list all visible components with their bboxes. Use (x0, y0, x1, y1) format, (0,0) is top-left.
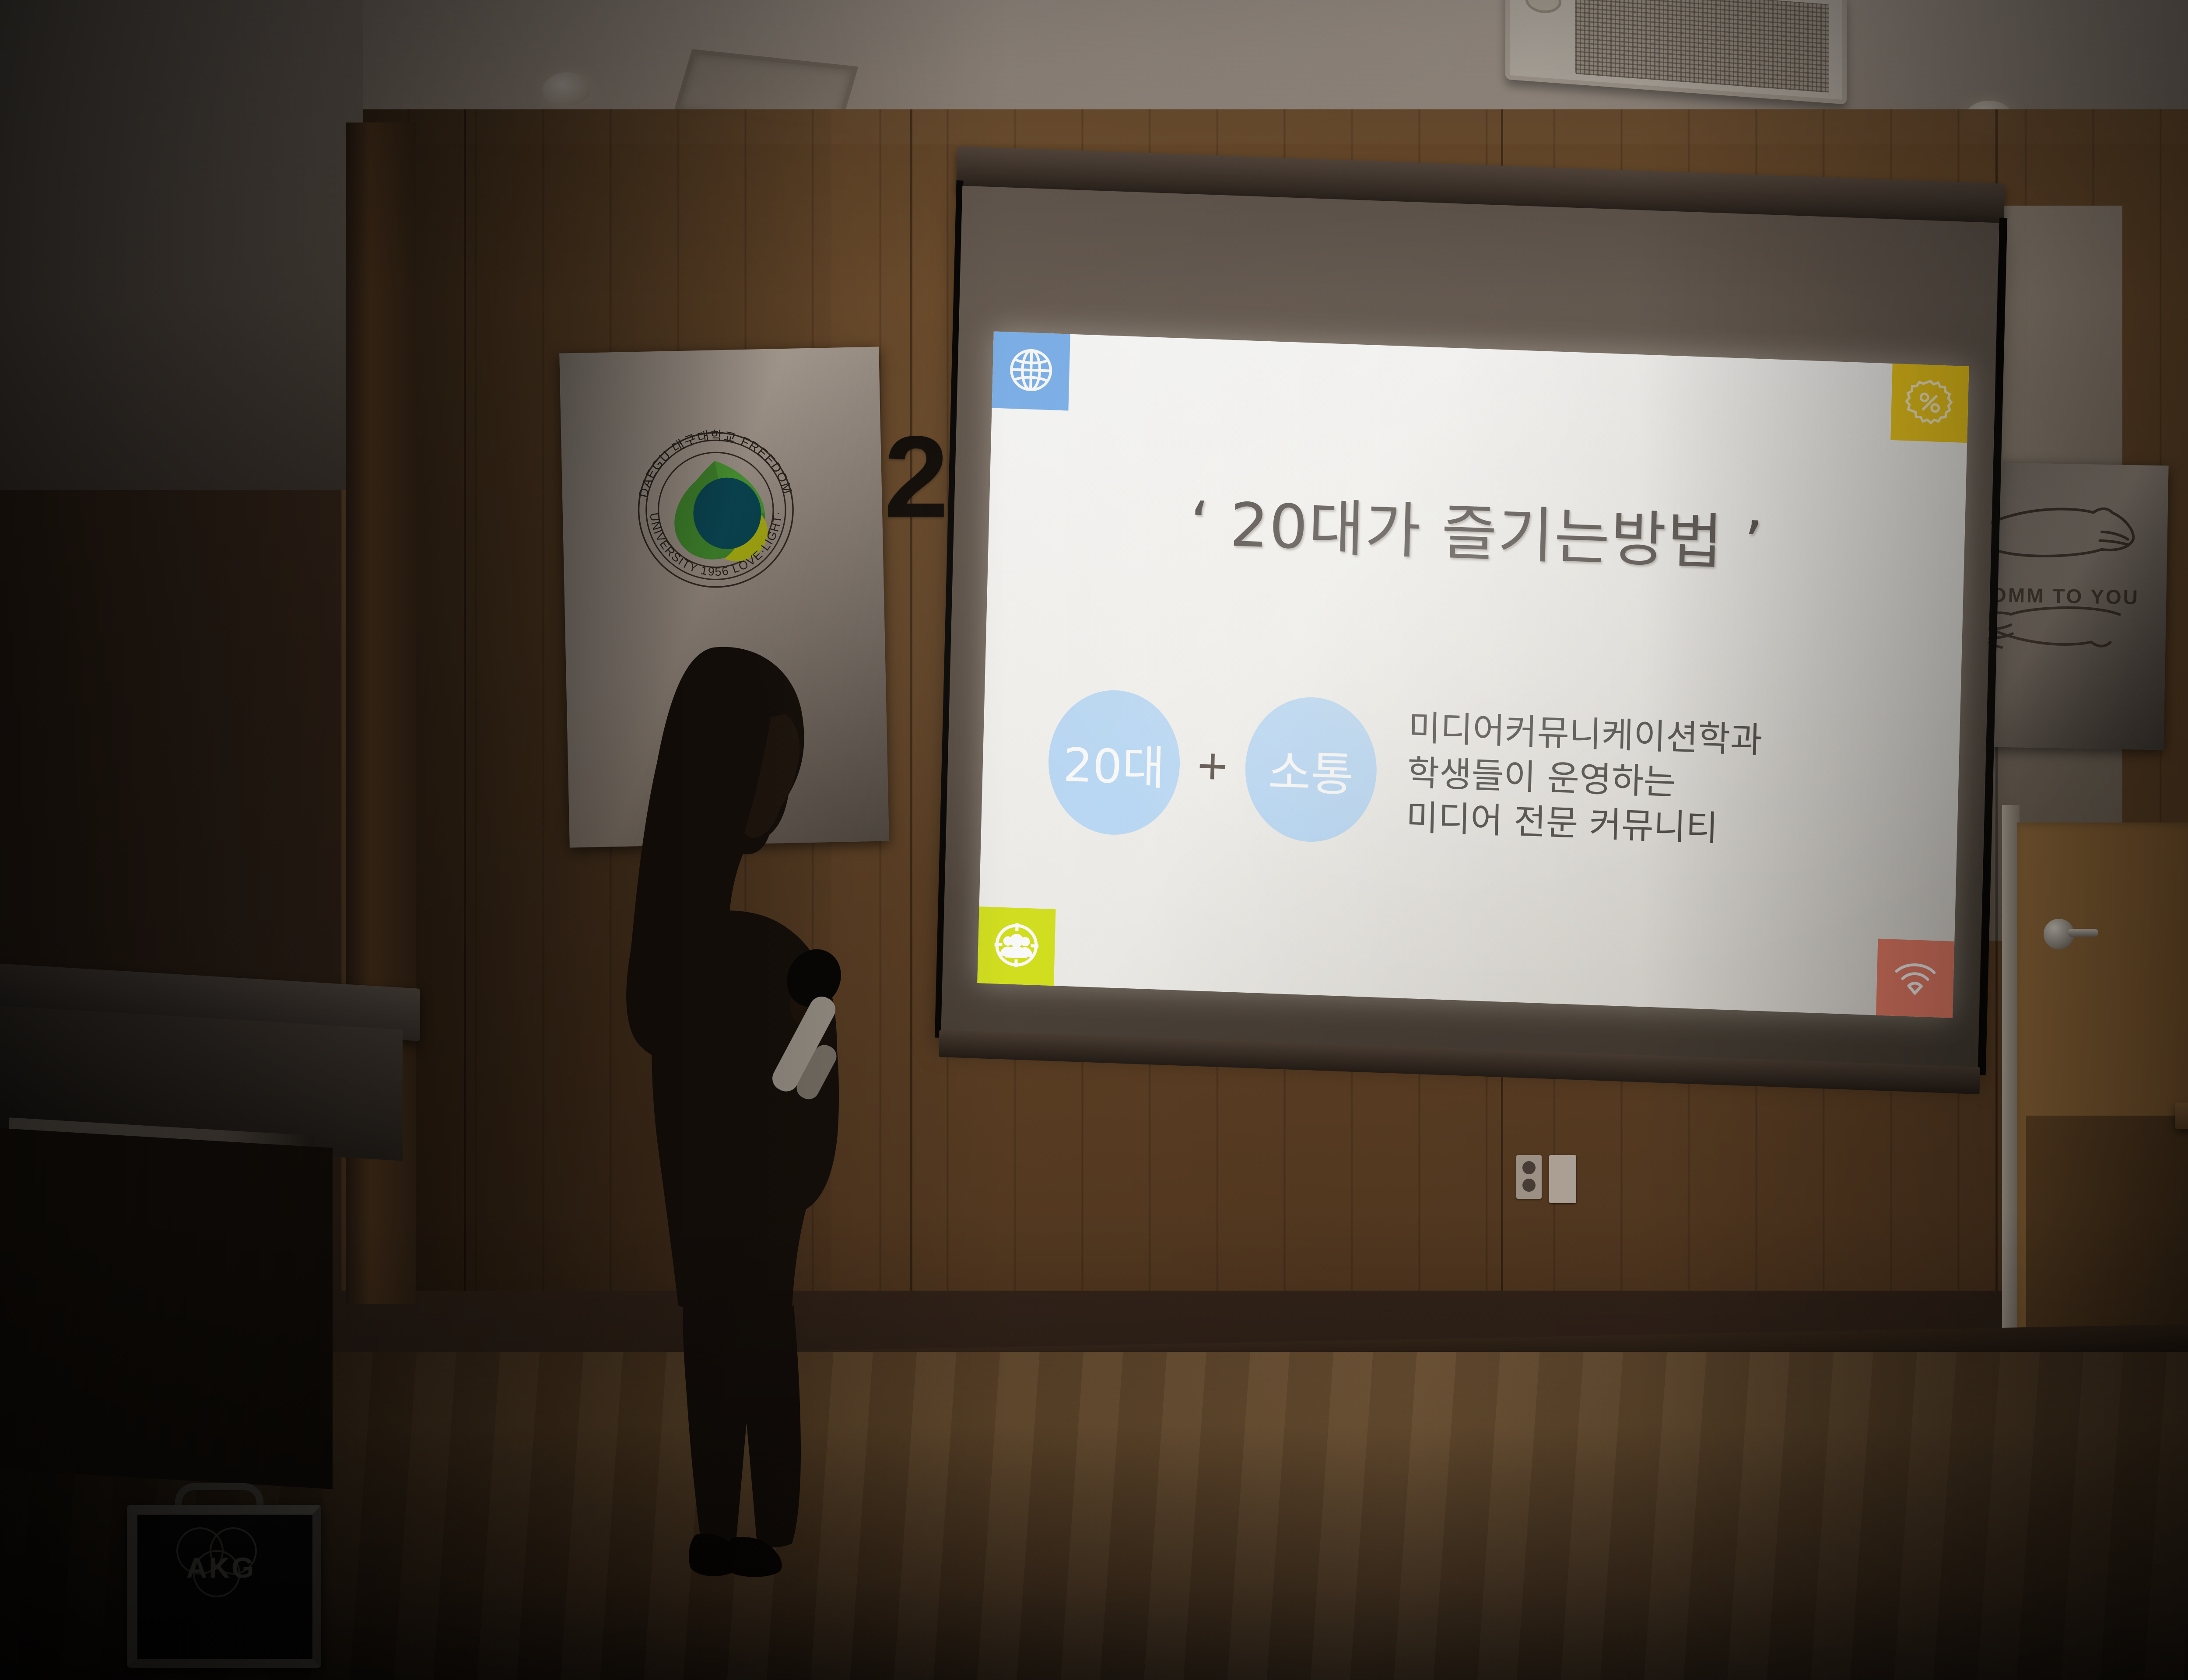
projected-slide: ‘ 20대가 즐기는방법 ’ 20대 + 소통 미디어커뮤니케이션학과 학생들이… (977, 331, 1969, 1018)
akg-microphone-case: AKG (127, 1479, 315, 1662)
slide-formula-row: 20대 + 소통 미디어커뮤니케이션학과 학생들이 운영하는 미디어 전문 커뮤… (1046, 666, 1917, 885)
wall-seam (464, 109, 466, 1291)
percent-badge-icon (1904, 376, 1956, 430)
projection-screen-surface: ‘ 20대가 즐기는방법 ’ 20대 + 소통 미디어커뮤니케이션학과 학생들이… (941, 186, 1999, 1071)
presenter-silhouette (582, 630, 897, 1584)
power-outlet[interactable] (1516, 1155, 1542, 1199)
door-lever-handle[interactable] (2068, 929, 2098, 937)
target-people-icon (991, 919, 1042, 973)
slide-description: 미디어커뮤니케이션학과 학생들이 운영하는 미디어 전문 커뮤니티 (1406, 706, 1763, 853)
projection-screen-assembly: ‘ 20대가 즐기는방법 ’ 20대 + 소통 미디어커뮤니케이션학과 학생들이… (934, 146, 2086, 1114)
slide-corner-top-right (1890, 364, 1969, 443)
scene-root: DAEGU 대구대학교 FREEDOM UNIVERSITY 1956 LOVE… (0, 0, 2188, 1680)
lectern (0, 976, 424, 1479)
lectern-body (0, 1127, 333, 1489)
slide-corner-bottom-right (1876, 939, 1954, 1018)
side-table-panel (2026, 1116, 2188, 1361)
slide-corner-top-left (992, 331, 1070, 410)
blank-wall-plate (1549, 1155, 1576, 1203)
door-frame (2002, 805, 2020, 1387)
wall-seam (910, 109, 912, 1291)
globe-icon (1005, 344, 1057, 398)
slide-title: ‘ 20대가 즐기는방법 ’ (988, 467, 1966, 589)
side-table-top (2175, 1102, 2188, 1129)
plus-operator: + (1179, 738, 1246, 793)
bubble-sotong: 소통 (1244, 695, 1378, 844)
outlet-socket (1522, 1179, 1536, 1192)
bubble-20dae: 20대 (1047, 688, 1182, 837)
akg-brand-label: AKG (127, 1551, 315, 1584)
outlet-socket (1522, 1161, 1536, 1174)
wifi-icon (1890, 951, 1941, 1005)
slide-corner-bottom-left (977, 906, 1055, 986)
plaster-wall-left (0, 0, 363, 490)
